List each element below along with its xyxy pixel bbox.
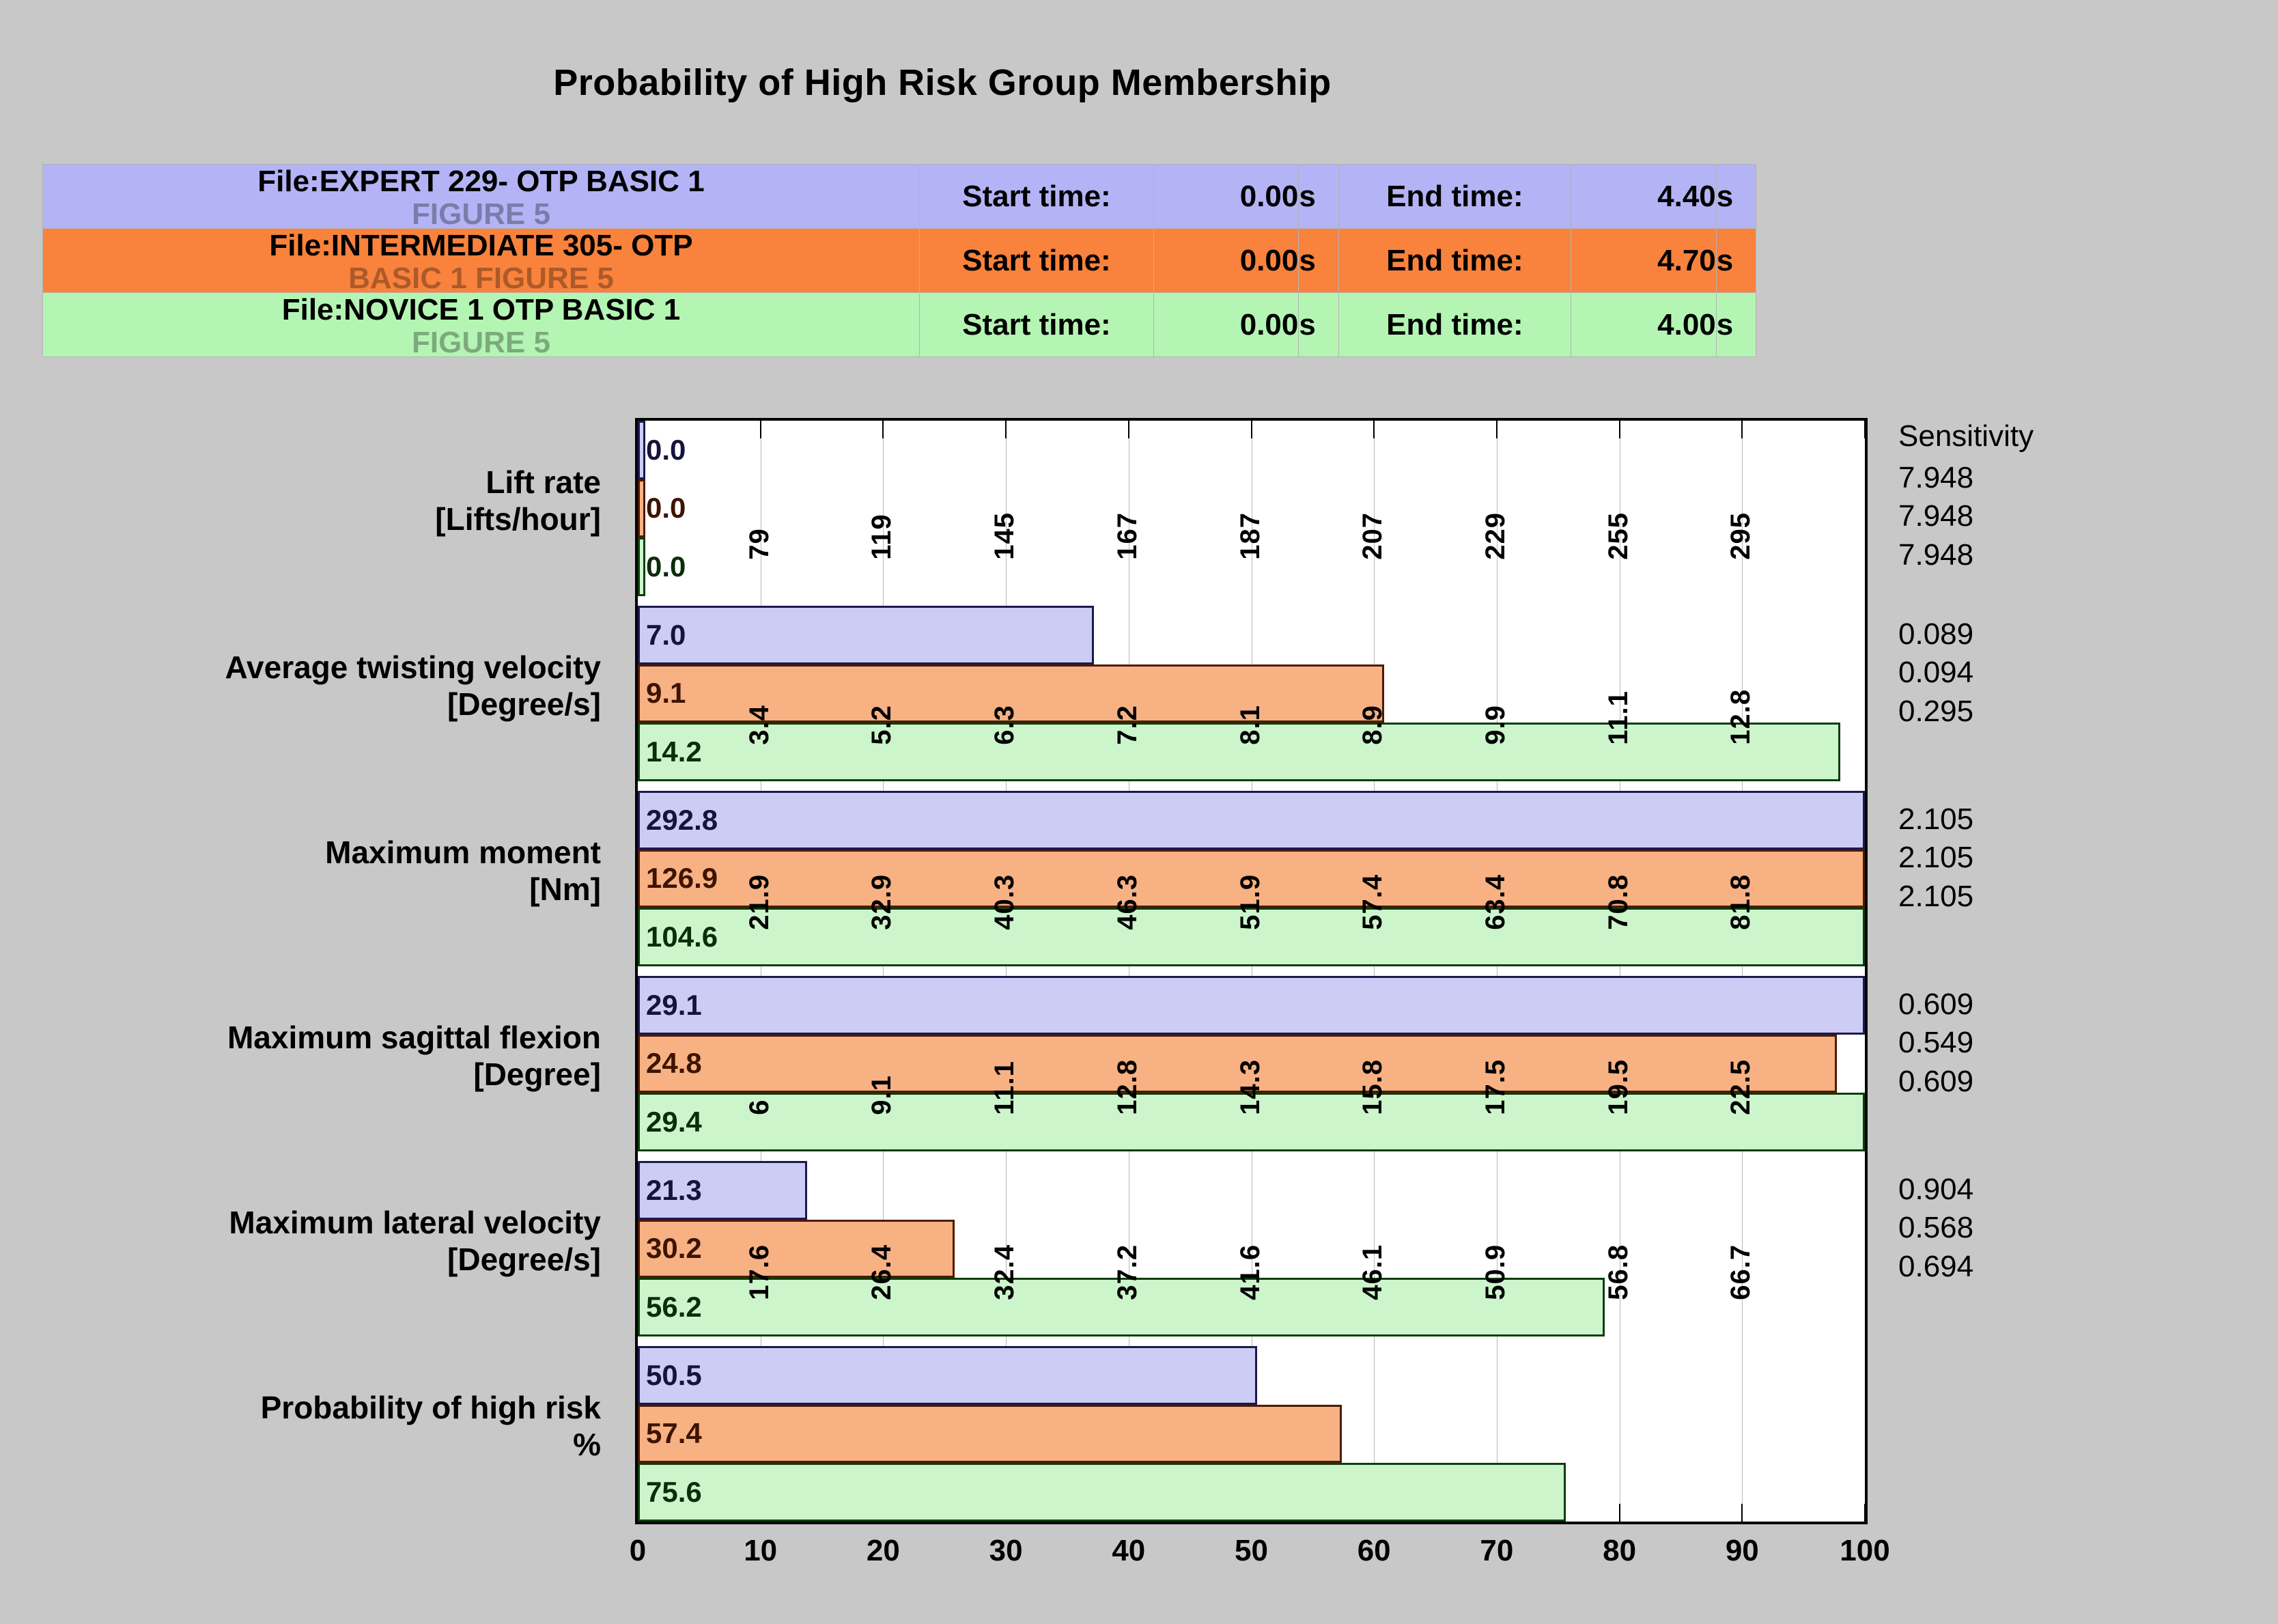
bar-value-label: 50.5 [646,1361,702,1390]
bar-chart-plot-area: 791191451671872072292552950.00.00.03.45.… [635,418,1868,1524]
bar-group: 17.626.432.437.241.646.150.956.866.721.3… [638,1161,1865,1336]
sensitivity-group: 0.9040.5680.694 [1898,1171,1973,1286]
scale-reference-label: 9.1 [868,1004,895,1115]
file-header-row: File:NOVICE 1 OTP BASIC 1FIGURE 5Start t… [43,293,1756,357]
bar[interactable] [638,479,645,538]
scale-reference-label: 12.8 [1114,1004,1141,1115]
scale-reference-label: 46.3 [1114,819,1141,930]
scale-reference-label: 32.4 [991,1189,1018,1300]
row-label-line1: Average twisting velocity [82,649,601,686]
bar-value-label: 292.8 [646,806,718,835]
bar-value-label: 126.9 [646,864,718,893]
scale-reference-label: 8.1 [1237,634,1264,745]
bar-value-label: 29.1 [646,991,702,1020]
sensitivity-group: 0.6090.5490.609 [1898,985,1973,1101]
scale-reference-label: 50.9 [1482,1189,1509,1300]
file-name-cell: File:EXPERT 229- OTP BASIC 1FIGURE 5 [43,165,920,229]
scale-reference-label: 8.9 [1359,634,1386,745]
sensitivity-group: 2.1052.1052.105 [1898,800,1973,916]
file-header-table: File:EXPERT 229- OTP BASIC 1FIGURE 5Star… [42,164,1756,357]
end-time-value[interactable]: 4.70 [1571,229,1717,293]
start-time-unit: s [1299,229,1338,293]
row-label: Maximum sagittal flexion[Degree] [82,1019,601,1093]
page-title: Probability of High Risk Group Membershi… [0,61,1885,104]
bar-group: 3.45.26.37.28.18.99.911.112.87.09.114.2 [638,606,1865,781]
bar-row: 57.4 [638,1405,1865,1464]
scale-reference-label: 11.1 [1605,634,1632,745]
start-time-value[interactable]: 0.00 [1153,165,1299,229]
bar-value-label: 56.2 [646,1293,702,1321]
scale-reference-label: 21.9 [746,819,773,930]
x-axis-tick-label: 50 [1235,1534,1268,1568]
bar-group: 69.111.112.814.315.817.519.522.529.124.8… [638,976,1865,1151]
scale-reference-label: 46.1 [1359,1189,1386,1300]
scale-reference-label: 6 [746,1004,773,1115]
row-label-line2: [Degree] [82,1056,601,1093]
sensitivity-value: 0.089 [1898,615,1973,654]
sensitivity-value: 0.694 [1898,1248,1973,1286]
x-axis-tick-label: 80 [1603,1534,1636,1568]
scale-reference-label: 14.3 [1237,1004,1264,1115]
bar-value-label: 24.8 [646,1049,702,1078]
scale-reference-label: 63.4 [1482,819,1509,930]
row-label: Maximum lateral velocity[Degree/s] [82,1204,601,1278]
x-axis-tick-label: 40 [1112,1534,1145,1568]
scale-reference-label: 11.1 [991,1004,1018,1115]
scale-reference-label: 51.9 [1237,819,1264,930]
bar[interactable] [638,1346,1257,1405]
bar-group: 791191451671872072292552950.00.00.0 [638,421,1865,596]
scale-reference-label: 19.5 [1605,1004,1632,1115]
file-name-overflow-text: FIGURE 5 [43,328,919,357]
sensitivity-value: 0.904 [1898,1171,1973,1209]
sensitivity-value: 2.105 [1898,839,1973,877]
sensitivity-value: 0.609 [1898,985,1973,1024]
row-label-line1: Maximum sagittal flexion [82,1019,601,1056]
x-axis-tick-label: 10 [744,1534,777,1568]
bar-value-label: 29.4 [646,1108,702,1136]
row-label-line1: Probability of high risk [82,1389,601,1426]
row-label: Lift rate[Lifts/hour] [82,464,601,538]
row-label-line2: [Degree/s] [82,1241,601,1278]
file-name-overflow-text: BASIC 1 FIGURE 5 [43,264,919,293]
row-label-line2: [Nm] [82,871,601,908]
start-time-label: Start time: [920,165,1154,229]
start-time-label: Start time: [920,293,1154,357]
end-time-unit: s [1716,165,1756,229]
scale-reference-label: 119 [868,449,895,560]
scale-reference-label: 145 [991,449,1018,560]
bar-value-label: 0.0 [646,494,686,522]
row-label: Probability of high risk% [82,1389,601,1464]
sensitivity-value: 2.105 [1898,878,1973,916]
scale-reference-label: 12.8 [1727,634,1754,745]
scale-reference-label: 15.8 [1359,1004,1386,1115]
end-time-label: End time: [1338,165,1571,229]
start-time-value[interactable]: 0.00 [1153,229,1299,293]
scale-reference-label: 81.8 [1727,819,1754,930]
scale-reference-label: 6.3 [991,634,1018,745]
scale-reference-label: 295 [1727,449,1754,560]
end-time-label: End time: [1338,229,1571,293]
bar-value-label: 75.6 [646,1478,702,1507]
bar-value-label: 9.1 [646,679,686,708]
scale-reference-label: 7.2 [1114,634,1141,745]
bar-value-label: 57.4 [646,1419,702,1448]
file-name-text: File:EXPERT 229- OTP BASIC 1 [43,167,919,196]
file-header-row: File:EXPERT 229- OTP BASIC 1FIGURE 5Star… [43,165,1756,229]
bar-value-label: 7.0 [646,621,686,649]
sensitivity-value: 0.568 [1898,1209,1973,1247]
end-time-unit: s [1716,229,1756,293]
x-axis-tick-label: 70 [1480,1534,1513,1568]
row-label: Maximum moment[Nm] [82,834,601,908]
start-time-unit: s [1299,293,1338,357]
file-header-row: File:INTERMEDIATE 305- OTPBASIC 1 FIGURE… [43,229,1756,293]
x-axis-tick-label: 30 [989,1534,1023,1568]
file-name-cell: File:NOVICE 1 OTP BASIC 1FIGURE 5 [43,293,920,357]
bar-value-label: 104.6 [646,923,718,951]
bar-row: 75.6 [638,1463,1865,1522]
scale-reference-label: 9.9 [1482,634,1509,745]
bar-group: 21.932.940.346.351.957.463.470.881.8292.… [638,791,1865,966]
file-name-text: File:INTERMEDIATE 305- OTP [43,231,919,260]
scale-reference-label: 187 [1237,449,1264,560]
row-label-line1: Maximum moment [82,834,601,871]
row-label-line1: Lift rate [82,464,601,501]
scale-reference-label: 66.7 [1727,1189,1754,1300]
sensitivity-value: 7.948 [1898,459,1973,497]
scale-reference-label: 167 [1114,449,1141,560]
scale-reference-label: 229 [1482,449,1509,560]
row-label-line1: Maximum lateral velocity [82,1204,601,1241]
end-time-value[interactable]: 4.00 [1571,293,1717,357]
bar-value-label: 0.0 [646,552,686,581]
row-label-line2: [Degree/s] [82,686,601,723]
file-name-overflow-text: FIGURE 5 [43,199,919,229]
sensitivity-value: 2.105 [1898,800,1973,839]
x-axis-tick-label: 90 [1726,1534,1759,1568]
end-time-label: End time: [1338,293,1571,357]
bar[interactable] [638,606,1094,664]
scale-reference-label: 57.4 [1359,819,1386,930]
scale-reference-label: 37.2 [1114,1189,1141,1300]
row-label: Average twisting velocity[Degree/s] [82,649,601,723]
sensitivity-value: 7.948 [1898,536,1973,574]
x-axis-tick-label: 0 [630,1534,646,1568]
scale-reference-label: 56.8 [1605,1189,1632,1300]
bar[interactable] [638,1405,1342,1464]
x-axis-tick-label: 60 [1358,1534,1391,1568]
scale-reference-label: 3.4 [746,634,773,745]
end-time-value[interactable]: 4.40 [1571,165,1717,229]
bar-value-label: 14.2 [646,738,702,766]
sensitivity-group: 7.9487.9487.948 [1898,459,1973,574]
scale-reference-label: 17.5 [1482,1004,1509,1115]
scale-reference-label: 41.6 [1237,1189,1264,1300]
file-name-text: File:NOVICE 1 OTP BASIC 1 [43,295,919,324]
bar[interactable] [638,421,645,479]
start-time-value[interactable]: 0.00 [1153,293,1299,357]
bar[interactable] [638,537,645,596]
bar-value-label: 0.0 [646,436,686,464]
scale-reference-label: 32.9 [868,819,895,930]
start-time-unit: s [1299,165,1338,229]
bar-row: 50.5 [638,1346,1865,1405]
scale-reference-label: 255 [1605,449,1632,560]
end-time-unit: s [1716,293,1756,357]
scale-reference-label: 79 [746,449,773,560]
sensitivity-value: 7.948 [1898,497,1973,535]
bar-value-label: 21.3 [646,1176,702,1205]
sensitivity-group: 0.0890.0940.295 [1898,615,1973,731]
row-label-line2: % [82,1426,601,1463]
scale-reference-label: 207 [1359,449,1386,560]
scale-reference-label: 26.4 [868,1189,895,1300]
start-time-label: Start time: [920,229,1154,293]
bar[interactable] [638,1463,1566,1522]
sensitivity-column-header: Sensitivity [1898,419,2034,453]
sensitivity-value: 0.609 [1898,1063,1973,1101]
scale-reference-label: 22.5 [1727,1004,1754,1115]
bar-value-label: 30.2 [646,1234,702,1263]
bar-group: 50.557.475.6 [638,1346,1865,1522]
scale-reference-label: 70.8 [1605,819,1632,930]
scale-reference-label: 17.6 [746,1189,773,1300]
sensitivity-value: 0.094 [1898,654,1973,692]
x-axis-tick-label: 100 [1840,1534,1889,1568]
scale-reference-label: 5.2 [868,634,895,745]
sensitivity-value: 0.549 [1898,1024,1973,1062]
scale-reference-label: 40.3 [991,819,1018,930]
x-axis-tick-label: 20 [867,1534,900,1568]
file-name-cell: File:INTERMEDIATE 305- OTPBASIC 1 FIGURE… [43,229,920,293]
row-label-line2: [Lifts/hour] [82,501,601,537]
sensitivity-value: 0.295 [1898,692,1973,731]
